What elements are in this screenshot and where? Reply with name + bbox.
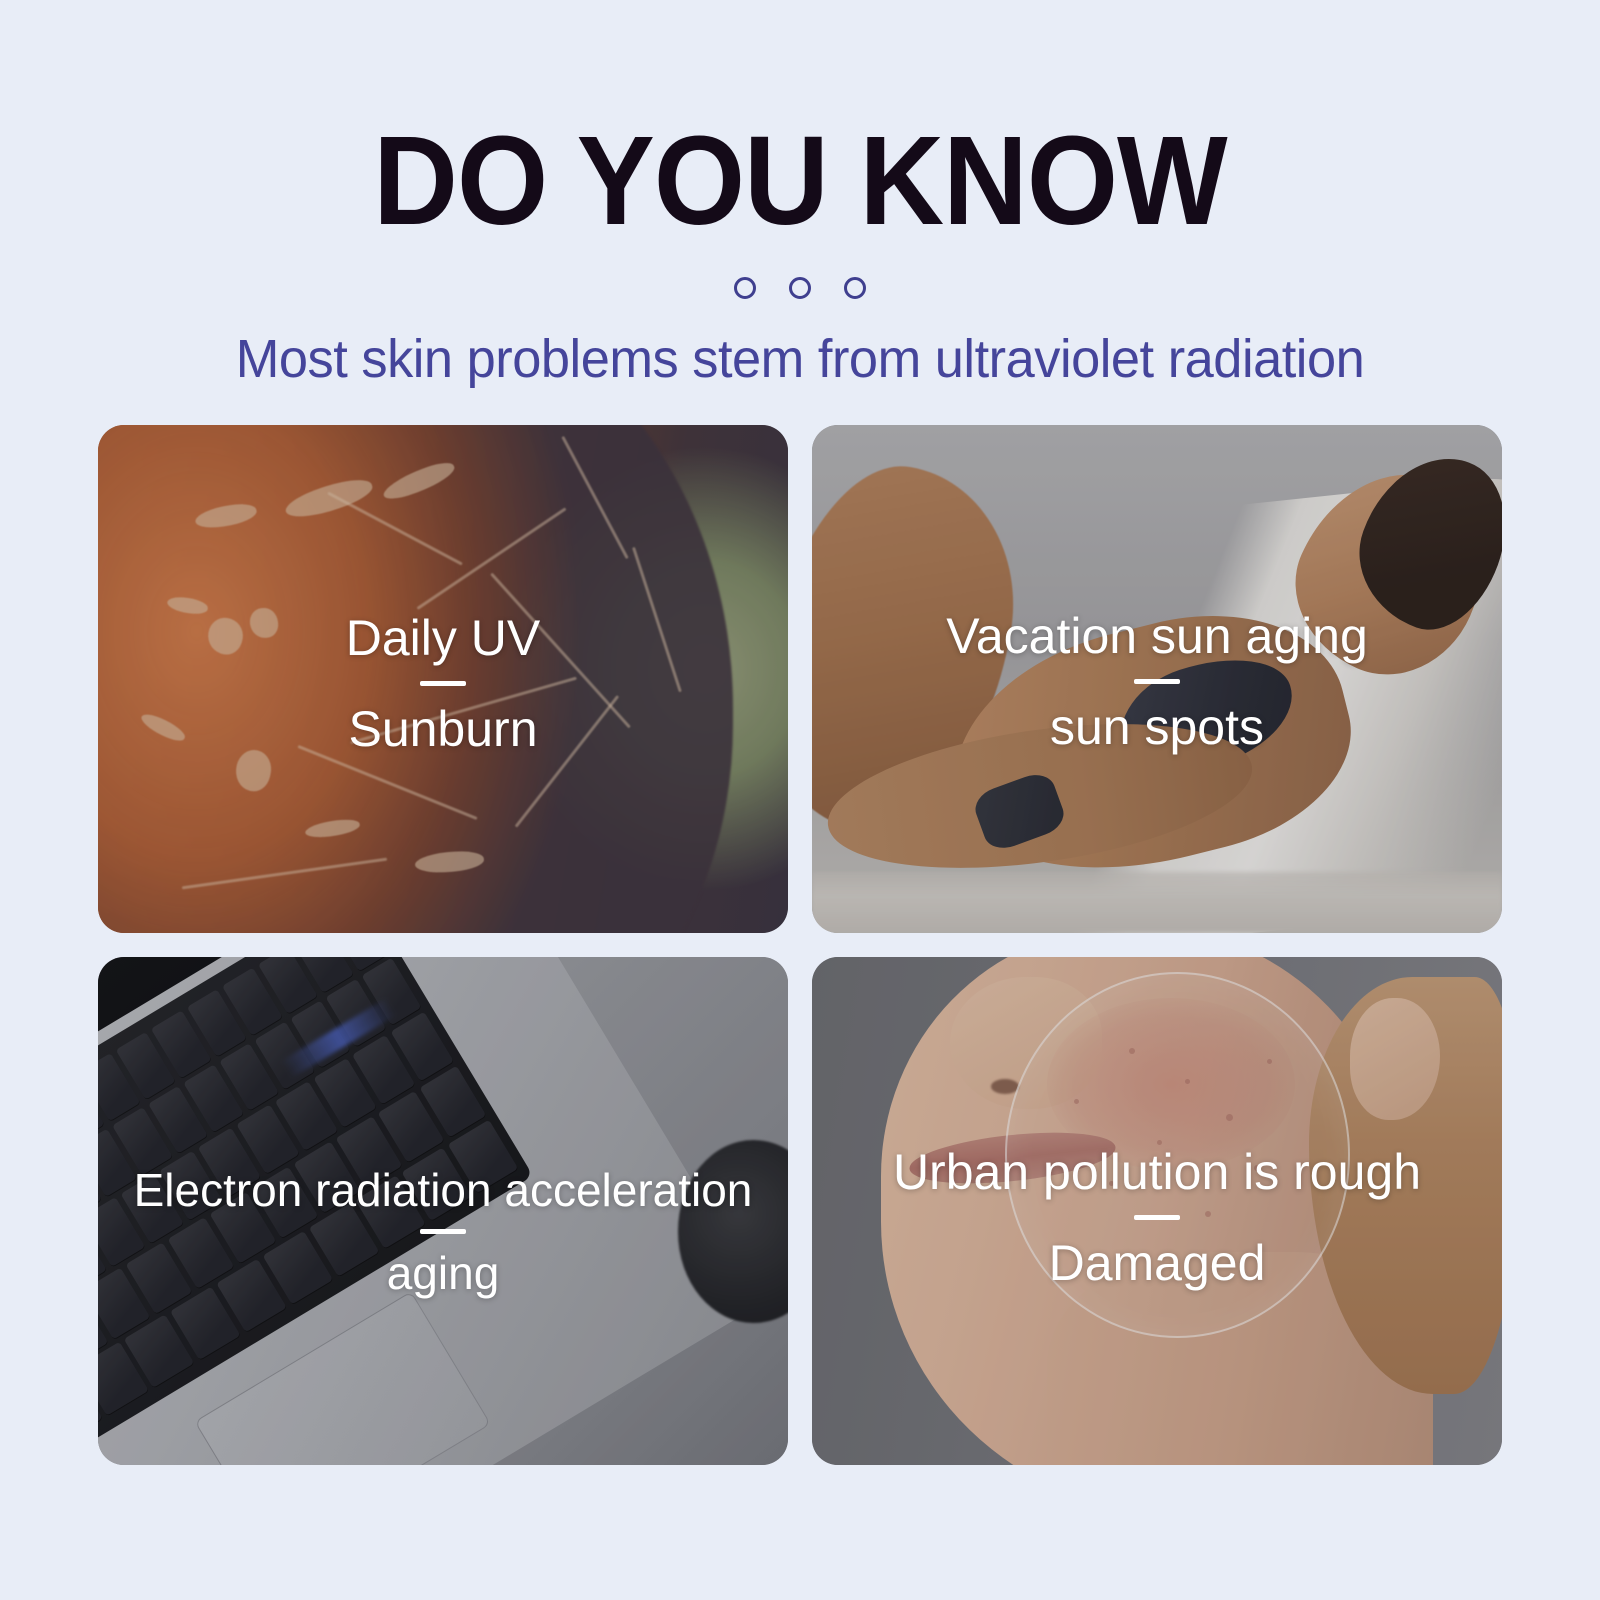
info-card-electron-radiation[interactable]: Electron radiation acceleration aging [98, 957, 788, 1465]
info-card-grid: Daily UV Sunburn Vacation sun aging sun … [98, 425, 1502, 1465]
dot-separator [0, 274, 1600, 302]
magnifier-circle-icon [1005, 972, 1350, 1338]
card-image-sunbathing-woman [812, 425, 1502, 933]
card-image-laptop-keyboard [98, 957, 788, 1465]
info-card-urban-pollution[interactable]: Urban pollution is rough Damaged [812, 957, 1502, 1465]
info-card-vacation-sun[interactable]: Vacation sun aging sun spots [812, 425, 1502, 933]
page-subtitle: Most skin problems stem from ultraviolet… [24, 328, 1576, 390]
card-image-sunburned-skin [98, 425, 788, 933]
info-card-daily-uv[interactable]: Daily UV Sunburn [98, 425, 788, 933]
circle-dot-icon [734, 277, 756, 299]
page-title: DO YOU KNOW [56, 118, 1544, 244]
circle-dot-icon [789, 277, 811, 299]
circle-dot-icon [844, 277, 866, 299]
card-image-face-closeup [812, 957, 1502, 1465]
page-header: DO YOU KNOW Most skin problems stem from… [0, 0, 1600, 390]
